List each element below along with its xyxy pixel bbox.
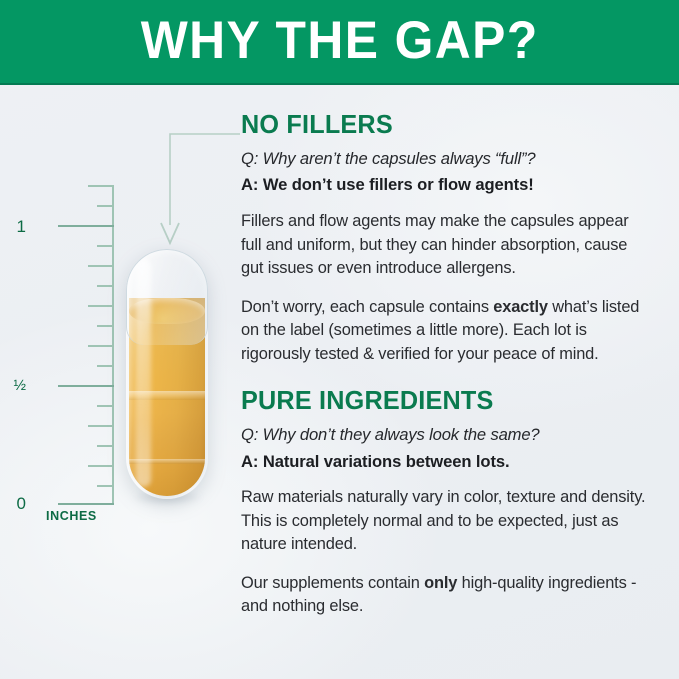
ruler-tick xyxy=(88,185,114,187)
paragraph-exactly-listed: Don’t worry, each capsule contains exact… xyxy=(241,296,653,366)
ruler-tick-major xyxy=(58,385,114,387)
ruler-tick xyxy=(97,365,114,367)
content-column: NO FILLERS Q: Why aren’t the capsules al… xyxy=(241,110,653,634)
ruler-tick xyxy=(97,405,114,407)
ruler-tick xyxy=(97,285,114,287)
ruler-tick xyxy=(88,345,114,347)
ruler-label-one: 1 xyxy=(2,218,26,235)
ruler-unit-label: INCHES xyxy=(46,509,97,523)
ruler-label-zero: 0 xyxy=(2,495,26,512)
ruler-graphic: 1 ½ 0 xyxy=(28,185,114,505)
infographic-page: WHY THE GAP? 1 ½ 0 IN xyxy=(0,0,679,679)
capsule-illustration: 1 ½ 0 INCHES xyxy=(0,85,238,679)
ruler-label-half: ½ xyxy=(2,378,26,393)
ruler-tick xyxy=(97,245,114,247)
page-title: WHY THE GAP? xyxy=(141,14,539,67)
ruler-tick xyxy=(97,485,114,487)
section-heading-pure-ingredients: PURE INGREDIENTS xyxy=(241,386,641,415)
ruler-tick xyxy=(88,265,114,267)
question-pure-ingredients: Q: Why don’t they always look the same? xyxy=(241,424,653,446)
answer-pure-ingredients: A: Natural variations between lots. xyxy=(241,451,653,473)
ruler-tick xyxy=(88,305,114,307)
question-no-fillers: Q: Why aren’t the capsules always “full”… xyxy=(241,148,653,170)
paragraph-fillers-risk: Fillers and flow agents may make the cap… xyxy=(241,210,653,280)
ruler-tick xyxy=(88,425,114,427)
ruler-tick-major xyxy=(58,503,114,505)
ruler-tick xyxy=(97,205,114,207)
ruler-tick xyxy=(97,445,114,447)
ruler-tick xyxy=(88,465,114,467)
callout-arrow-icon xyxy=(160,125,250,255)
header-banner: WHY THE GAP? xyxy=(0,0,679,85)
section-heading-no-fillers: NO FILLERS xyxy=(241,110,641,139)
ruler-tick xyxy=(97,325,114,327)
paragraph-natural-variation: Raw materials naturally vary in color, t… xyxy=(241,486,653,556)
ruler-tick-major xyxy=(58,225,114,227)
paragraph-only-high-quality: Our supplements contain only high-qualit… xyxy=(241,572,653,619)
capsule-cap xyxy=(126,249,208,345)
answer-no-fillers: A: We don’t use fillers or flow agents! xyxy=(241,174,653,196)
capsule-graphic xyxy=(126,249,222,499)
